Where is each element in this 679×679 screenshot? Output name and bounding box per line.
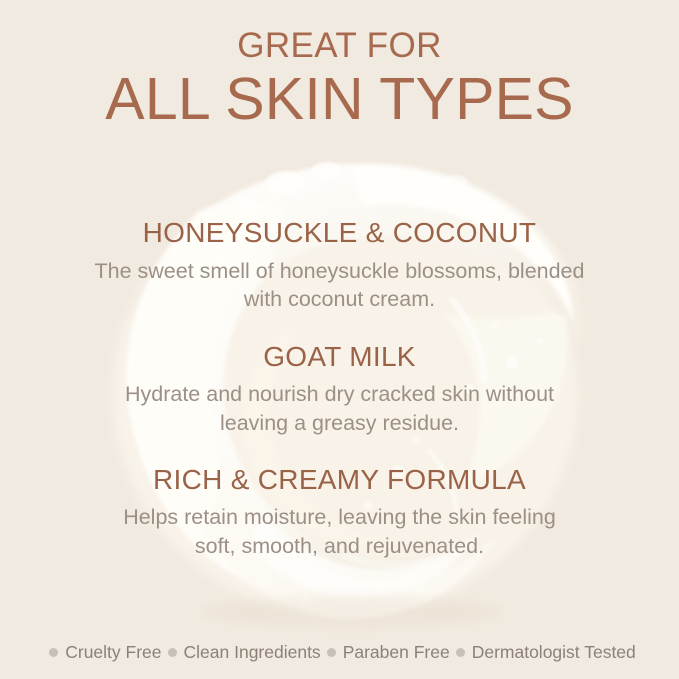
dot-icon xyxy=(168,648,177,657)
section-title-rich-creamy-formula: RICH & CREAMY FORMULA xyxy=(0,463,679,497)
section-body-rich-creamy-formula: Helps retain moisture, leaving the skin … xyxy=(75,503,605,560)
benefit-section: GOAT MILK Hydrate and nourish dry cracke… xyxy=(0,340,679,437)
section-body-line: with coconut cream. xyxy=(244,287,435,311)
section-title-honeysuckle-coconut: HONEYSUCKLE & COCONUT xyxy=(0,216,679,250)
badge-cruelty-free: Cruelty Free xyxy=(43,644,161,662)
benefit-section: RICH & CREAMY FORMULA Helps retain moist… xyxy=(0,463,679,560)
section-body-line: Helps retain moisture, leaving the skin … xyxy=(123,505,556,529)
benefit-section: HONEYSUCKLE & COCONUT The sweet smell of… xyxy=(0,216,679,313)
section-title-goat-milk: GOAT MILK xyxy=(0,340,679,374)
benefit-sections: HONEYSUCKLE & COCONUT The sweet smell of… xyxy=(0,216,679,560)
product-feature-poster: GREAT FOR ALL SKIN TYPES HONEYSUCKLE & C… xyxy=(0,0,679,679)
badge-paraben-free: Paraben Free xyxy=(321,644,450,662)
section-body-line: soft, smooth, and rejuvenated. xyxy=(195,534,484,558)
claims-badge-strip: Cruelty Free Clean Ingredients Paraben F… xyxy=(0,644,679,662)
dot-icon xyxy=(456,648,465,657)
badge-label: Cruelty Free xyxy=(65,644,161,662)
section-body-goat-milk: Hydrate and nourish dry cracked skin wit… xyxy=(75,380,605,437)
badge-label: Dermatologist Tested xyxy=(472,644,636,662)
badge-dermatologist-tested: Dermatologist Tested xyxy=(450,644,636,662)
dot-icon xyxy=(49,648,58,657)
badge-clean-ingredients: Clean Ingredients xyxy=(162,644,321,662)
badge-label: Paraben Free xyxy=(343,644,450,662)
section-body-line: The sweet smell of honeysuckle blossoms,… xyxy=(95,259,585,283)
badge-label: Clean Ingredients xyxy=(184,644,321,662)
eyebrow-heading: GREAT FOR xyxy=(237,28,442,65)
section-body-line: leaving a greasy residue. xyxy=(220,411,459,435)
page-title: ALL SKIN TYPES xyxy=(105,69,573,131)
section-body-line: Hydrate and nourish dry cracked skin wit… xyxy=(125,382,554,406)
poster-content: GREAT FOR ALL SKIN TYPES HONEYSUCKLE & C… xyxy=(0,0,679,679)
section-body-honeysuckle-coconut: The sweet smell of honeysuckle blossoms,… xyxy=(75,257,605,314)
dot-icon xyxy=(327,648,336,657)
